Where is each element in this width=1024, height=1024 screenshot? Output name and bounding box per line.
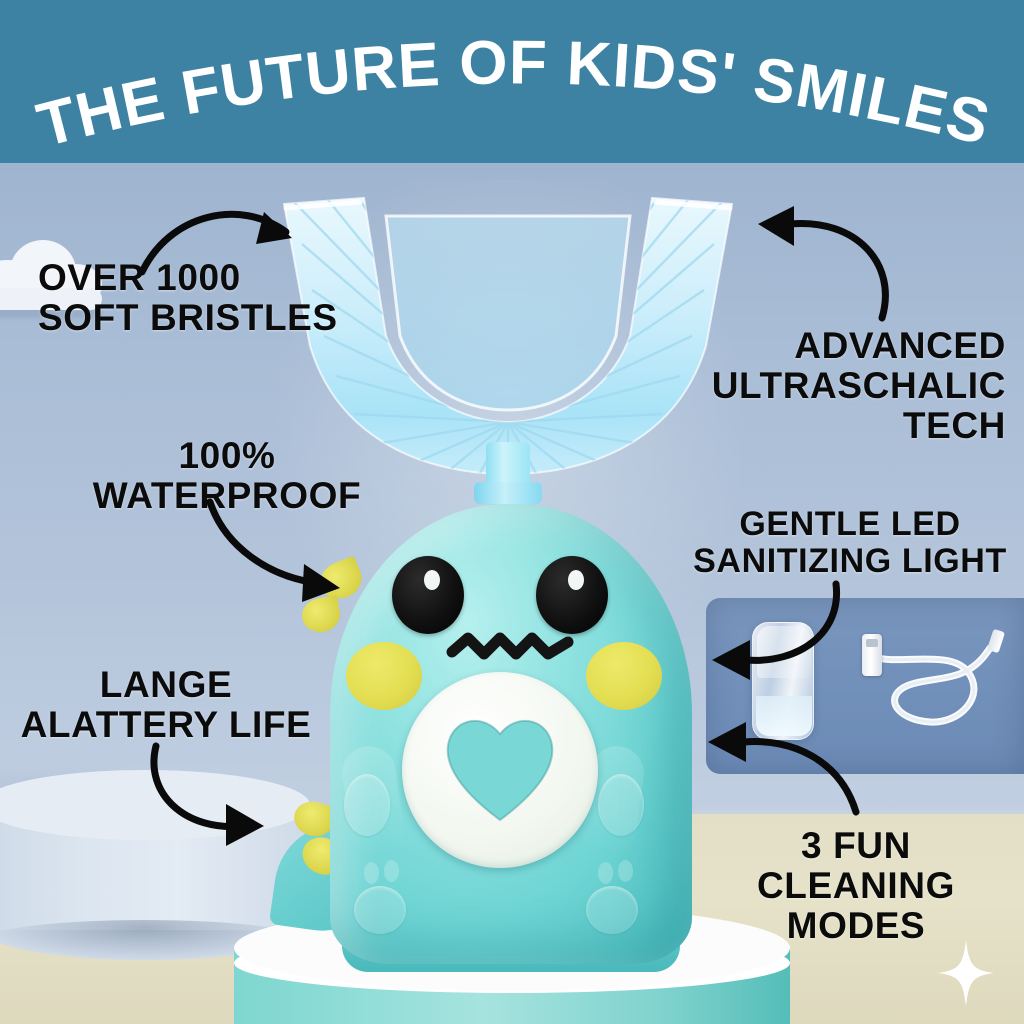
feature-label-led-sanitizing: GENTLE LED SANITIZING LIGHT	[690, 506, 1010, 579]
embossed-foot-4	[586, 886, 638, 934]
usb-plug-icon	[862, 634, 882, 676]
feature-label-battery-life-line1: LANGE	[10, 665, 322, 705]
embossed-toe-4	[384, 860, 399, 882]
arrow-to-bristles-icon	[136, 196, 316, 286]
heart-icon[interactable]	[440, 710, 560, 826]
arrow-to-waterproof-icon	[200, 498, 360, 608]
dino-eye-right-highlight	[568, 570, 584, 590]
headline-banner: THE FUTURE OF KIDS' SMILES	[0, 0, 1024, 163]
arrow-to-cleaning-modes-icon	[700, 700, 870, 820]
feature-label-led-sanitizing-line2: SANITIZING LIGHT	[690, 543, 1010, 580]
dino-eye-left	[392, 556, 464, 634]
embossed-toe-1	[598, 862, 613, 884]
feature-label-advanced-tech-line2: ULTRASCHALIC	[700, 366, 1006, 406]
headline-text-wrap: THE FUTURE OF KIDS' SMILES	[31, 28, 997, 160]
dino-eye-left-highlight	[424, 570, 440, 590]
feature-label-cleaning-modes: 3 FUN CLEANING MODES	[700, 826, 1012, 946]
feature-label-battery-life: LANGE ALATTERY LIFE	[10, 665, 322, 745]
heart-svg	[440, 710, 560, 826]
embossed-toe-3	[364, 862, 379, 884]
feature-label-cleaning-modes-line1: 3 FUN CLEANING	[700, 826, 1012, 906]
dino-mouth-svg	[446, 630, 576, 670]
arrow-to-advanced-tech-icon	[736, 202, 906, 332]
arrow-to-battery-life-icon	[140, 738, 290, 858]
dino-mouth-icon	[446, 630, 576, 670]
usb-cable-icon	[856, 628, 1006, 738]
dino-cheek-right	[586, 642, 662, 710]
sparkle-svg	[938, 940, 994, 1006]
embossed-toe-2	[618, 860, 633, 882]
sparkle-icon	[938, 940, 994, 1006]
brush-collar	[474, 482, 542, 504]
feature-label-soft-bristles-line2: SOFT BRISTLES	[38, 298, 338, 338]
dino-eye-right	[536, 556, 608, 634]
feature-label-advanced-tech: ADVANCED ULTRASCHALIC TECH	[700, 326, 1006, 446]
usb-plug-pin	[866, 639, 878, 647]
feature-label-advanced-tech-line3: TECH	[700, 406, 1006, 446]
embossed-foot-3	[354, 886, 406, 934]
headline-banner-inner: THE FUTURE OF KIDS' SMILES	[0, 0, 1024, 163]
dino-cheek-left	[346, 642, 422, 710]
infographic-stage: THE FUTURE OF KIDS' SMILES	[0, 0, 1024, 1024]
feature-label-led-sanitizing-line1: GENTLE LED	[690, 506, 1010, 543]
headline-arc-svg: THE FUTURE OF KIDS' SMILES	[0, 0, 1024, 163]
headline-title: THE FUTURE OF KIDS' SMILES	[31, 28, 997, 160]
feature-label-waterproof-line1: 100%	[72, 436, 382, 476]
arrow-to-led-light-icon	[704, 580, 854, 690]
